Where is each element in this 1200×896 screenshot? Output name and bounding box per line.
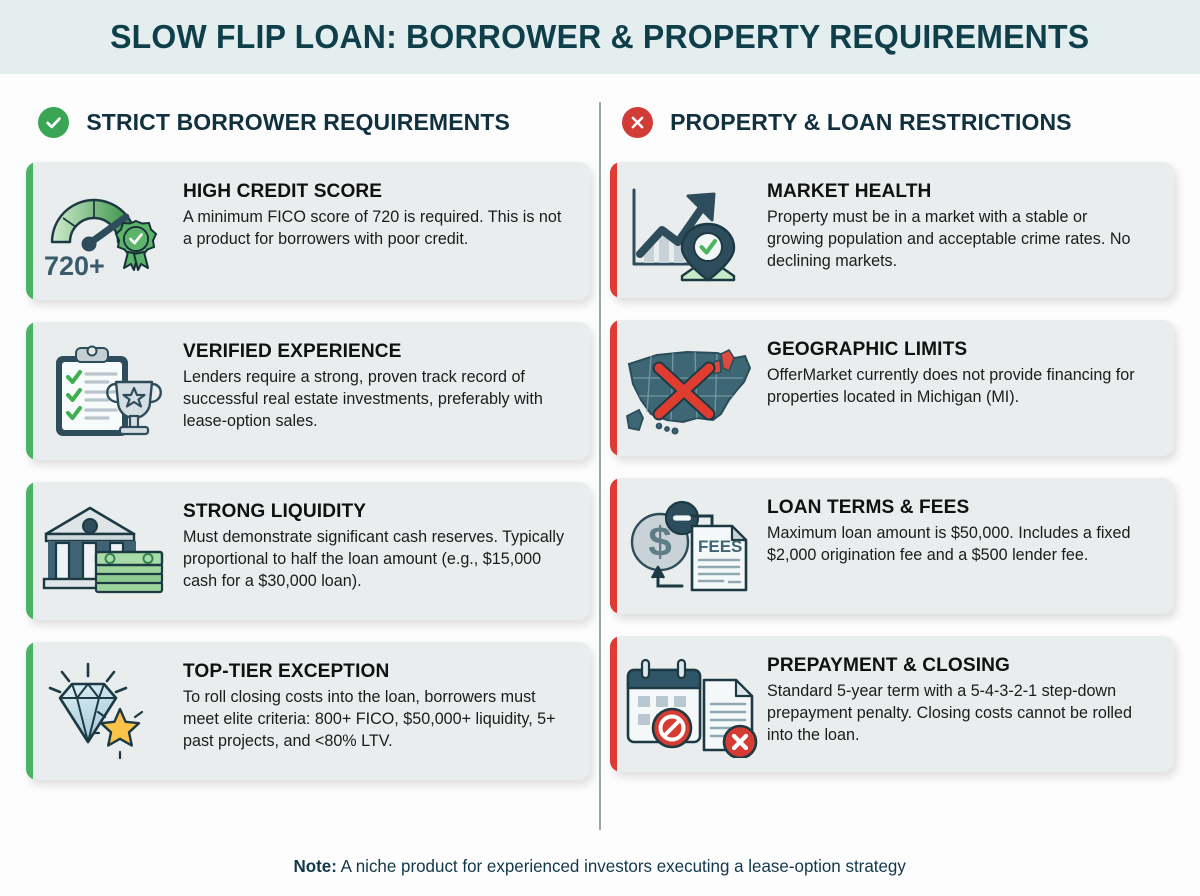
card-geographic-limits[interactable]: GEOGRAPHIC LIMITS OfferMarket currently … bbox=[610, 320, 1174, 456]
card-title: MARKET HEALTH bbox=[767, 180, 1146, 203]
footer-note-label: Note: bbox=[294, 856, 337, 876]
card-body: VERIFIED EXPERIENCE Lenders require a st… bbox=[183, 336, 574, 433]
card-body: LOAN TERMS & FEES Maximum loan amount is… bbox=[767, 492, 1158, 567]
card-prepayment-closing[interactable]: PREPAYMENT & CLOSING Standard 5-year ter… bbox=[610, 636, 1174, 772]
section-header-property: PROPERTY & LOAN RESTRICTIONS bbox=[610, 100, 1174, 144]
svg-text:FEES: FEES bbox=[698, 537, 742, 556]
card-title: PREPAYMENT & CLOSING bbox=[767, 654, 1146, 677]
growth-chart-map-pin-icon bbox=[617, 180, 767, 284]
section-title-borrower: STRICT BORROWER REQUIREMENTS bbox=[86, 109, 510, 136]
card-body: GEOGRAPHIC LIMITS OfferMarket currently … bbox=[767, 334, 1158, 409]
card-verified-experience[interactable]: VERIFIED EXPERIENCE Lenders require a st… bbox=[26, 322, 590, 460]
section-title-property: PROPERTY & LOAN RESTRICTIONS bbox=[670, 109, 1072, 136]
calendar-blocked-document-icon bbox=[617, 654, 767, 758]
us-map-x-icon bbox=[617, 338, 767, 442]
card-text: Property must be in a market with a stab… bbox=[767, 207, 1148, 273]
card-loan-terms-fees[interactable]: $ FEES bbox=[610, 478, 1174, 614]
card-body: MARKET HEALTH Property must be in a mark… bbox=[767, 176, 1158, 273]
card-text: A minimum FICO score of 720 is required.… bbox=[183, 207, 564, 251]
credit-gauge-icon: 720+ bbox=[33, 180, 183, 284]
card-strong-liquidity[interactable]: STRONG LIQUIDITY Must demonstrate signif… bbox=[26, 482, 590, 620]
dollar-fees-document-icon: $ FEES bbox=[617, 496, 767, 600]
footer-note: Note: A niche product for experienced in… bbox=[0, 836, 1200, 896]
card-title: TOP-TIER EXCEPTION bbox=[183, 660, 562, 683]
card-body: HIGH CREDIT SCORE A minimum FICO score o… bbox=[183, 176, 574, 251]
card-text: Maximum loan amount is $50,000. Includes… bbox=[767, 523, 1148, 567]
card-title: STRONG LIQUIDITY bbox=[183, 500, 562, 523]
column-property-restrictions: PROPERTY & LOAN RESTRICTIONS bbox=[610, 100, 1174, 802]
header-band: SLOW FLIP LOAN: BORROWER & PROPERTY REQU… bbox=[0, 0, 1200, 74]
card-body: PREPAYMENT & CLOSING Standard 5-year ter… bbox=[767, 650, 1158, 747]
footer-note-text: A niche product for experienced investor… bbox=[337, 856, 906, 876]
card-text: Must demonstrate significant cash reserv… bbox=[183, 527, 564, 593]
card-high-credit-score[interactable]: 720+ HIGH CREDIT SCORE A minimum FI bbox=[26, 162, 590, 300]
card-top-tier-exception[interactable]: TOP-TIER EXCEPTION To roll closing costs… bbox=[26, 642, 590, 780]
card-title: LOAN TERMS & FEES bbox=[767, 496, 1146, 519]
bank-cash-icon bbox=[33, 500, 183, 604]
card-title: VERIFIED EXPERIENCE bbox=[183, 340, 562, 363]
content-board: STRICT BORROWER REQUIREMENTS bbox=[0, 74, 1200, 836]
card-market-health[interactable]: MARKET HEALTH Property must be in a mark… bbox=[610, 162, 1174, 298]
svg-text:720+: 720+ bbox=[44, 251, 105, 281]
check-circle-icon bbox=[38, 107, 69, 138]
card-text: Standard 5-year term with a 5-4-3-2-1 st… bbox=[767, 681, 1148, 747]
diamond-star-icon bbox=[33, 660, 183, 764]
x-circle-icon bbox=[622, 107, 653, 138]
column-borrower-requirements: STRICT BORROWER REQUIREMENTS bbox=[26, 100, 590, 802]
card-text: To roll closing costs into the loan, bor… bbox=[183, 687, 564, 753]
card-body: STRONG LIQUIDITY Must demonstrate signif… bbox=[183, 496, 574, 593]
column-divider bbox=[599, 102, 601, 830]
card-title: HIGH CREDIT SCORE bbox=[183, 180, 562, 203]
clipboard-trophy-icon bbox=[33, 340, 183, 444]
card-text: Lenders require a strong, proven track r… bbox=[183, 367, 564, 433]
section-header-borrower: STRICT BORROWER REQUIREMENTS bbox=[26, 100, 590, 144]
card-body: TOP-TIER EXCEPTION To roll closing costs… bbox=[183, 656, 574, 753]
card-title: GEOGRAPHIC LIMITS bbox=[767, 338, 1146, 361]
card-text: OfferMarket currently does not provide f… bbox=[767, 365, 1148, 409]
page-title: SLOW FLIP LOAN: BORROWER & PROPERTY REQU… bbox=[110, 18, 1089, 56]
